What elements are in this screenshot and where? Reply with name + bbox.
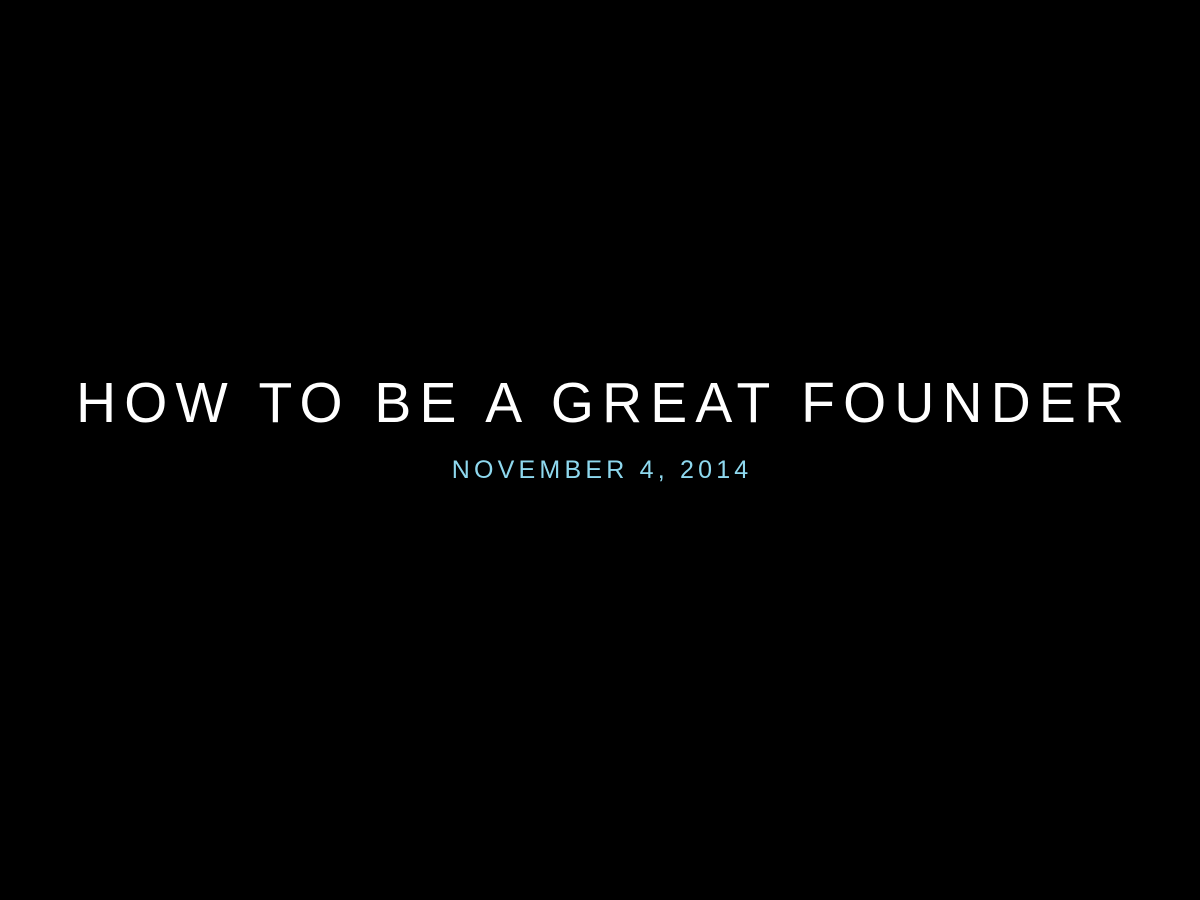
title-block: HOW TO BE A GREAT FOUNDER NOVEMBER 4, 20… — [0, 372, 1200, 484]
page-title: HOW TO BE A GREAT FOUNDER — [18, 372, 1182, 434]
presentation-slide: HOW TO BE A GREAT FOUNDER NOVEMBER 4, 20… — [0, 0, 1200, 900]
slide-date-subtitle: NOVEMBER 4, 2014 — [0, 456, 1200, 484]
